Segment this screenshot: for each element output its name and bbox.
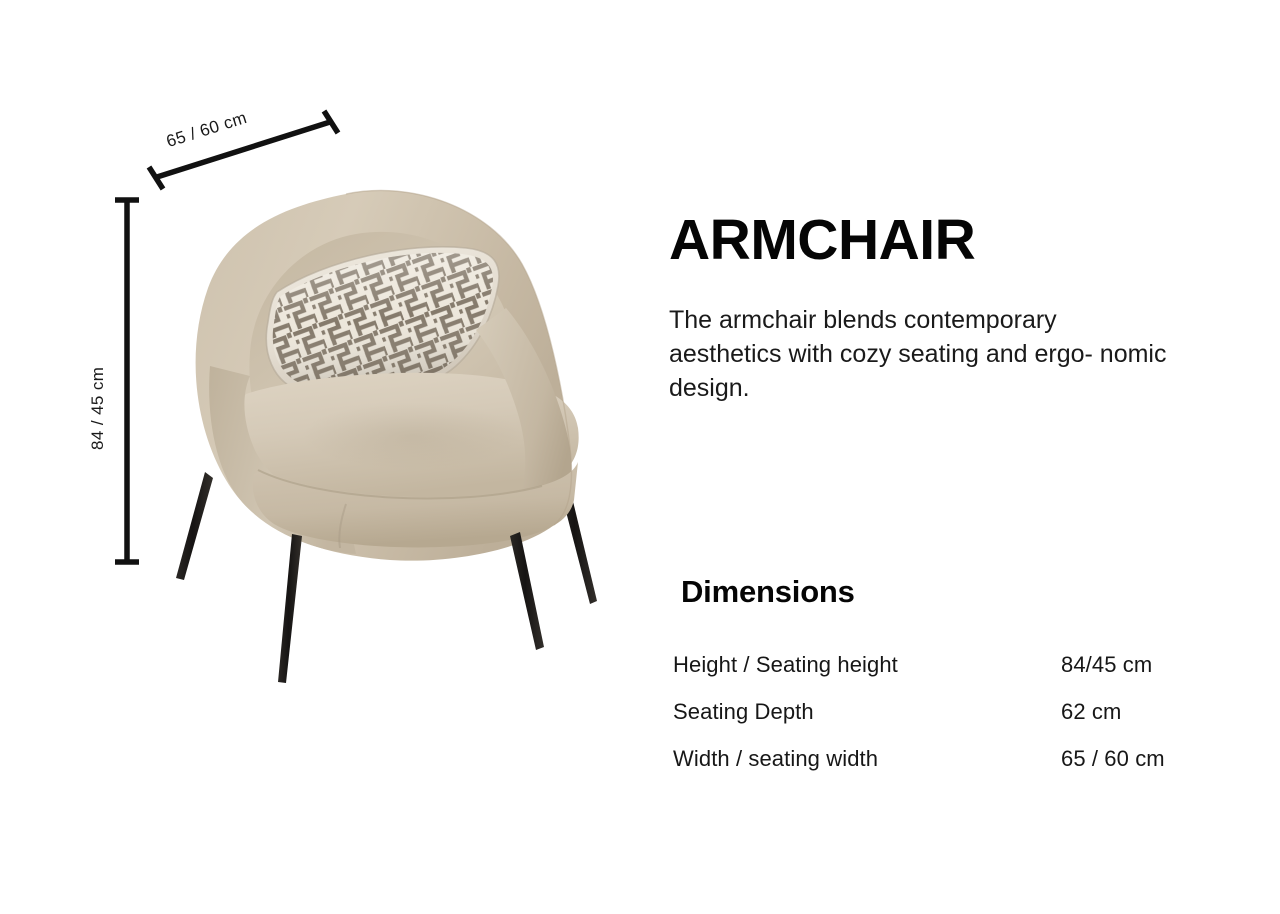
table-row: Height / Seating height 84/45 cm [673, 652, 1233, 699]
page-title: ARMCHAIR [669, 212, 975, 269]
dimensions-heading: Dimensions [681, 574, 855, 610]
dimension-value: 62 cm [1061, 699, 1121, 725]
product-info-panel: ARMCHAIR The armchair blends contemporar… [669, 0, 1280, 914]
product-description: The armchair blends contemporary aesthet… [669, 303, 1169, 405]
table-row: Seating Depth 62 cm [673, 699, 1233, 746]
dimension-label: Width / seating width [673, 746, 1061, 772]
dimension-label: Seating Depth [673, 699, 1061, 725]
height-dimension-callout [112, 192, 142, 570]
width-dimension-callout: 65 / 60 cm [130, 95, 360, 205]
dimension-label: Height / Seating height [673, 652, 1061, 678]
armchair-image [150, 180, 620, 700]
dimension-value: 65 / 60 cm [1061, 746, 1165, 772]
table-row: Width / seating width 65 / 60 cm [673, 746, 1233, 793]
dimensions-table: Height / Seating height 84/45 cm Seating… [673, 652, 1233, 793]
dimension-value: 84/45 cm [1061, 652, 1152, 678]
product-visual-panel: 65 / 60 cm 84 / 45 cm [0, 0, 640, 914]
height-dimension-label: 84 / 45 cm [88, 367, 108, 450]
product-spec-page: 65 / 60 cm 84 / 45 cm ARMCHAIR The armch… [0, 0, 1280, 914]
